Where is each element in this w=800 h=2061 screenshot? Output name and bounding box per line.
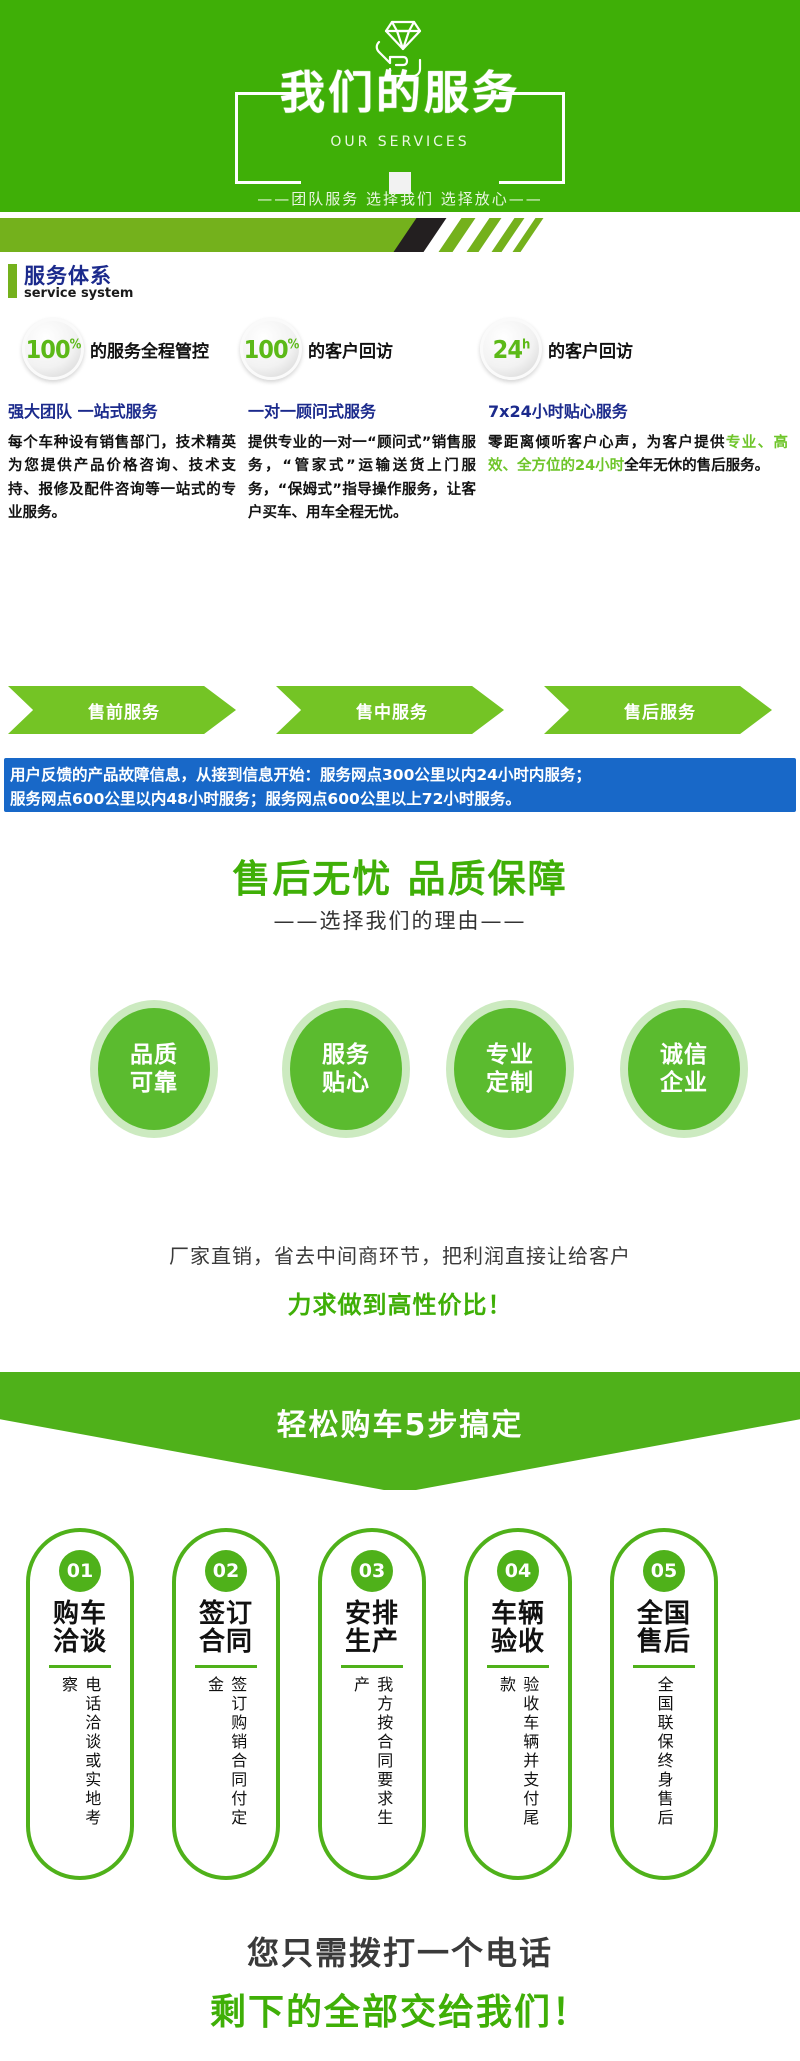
step-divider-1 — [49, 1665, 111, 1668]
service-policy-line-2: 服务网点600公里以内48小时服务；服务网点600公里以上72小时服务。 — [10, 787, 790, 811]
step-divider-3 — [341, 1665, 403, 1668]
chevron-label-1: 售前服务 — [88, 698, 160, 723]
step-title-4-line1: 车辆 — [491, 1600, 545, 1628]
feature-body-1: 每个车种设有销售部门，技术精英为您提供产品价格咨询、技术支持、报修及配件咨询等一… — [8, 432, 236, 526]
reason-oval-4-line1: 诚信 — [660, 1041, 708, 1069]
chevron-post-sale[interactable]: 售后服务 — [544, 686, 772, 734]
step-title-5: 全国 售后 — [637, 1600, 691, 1656]
step-desc-3: 我方按合同要求生产 — [349, 1676, 395, 1844]
reason-oval-2: 服务 贴心 — [290, 1008, 402, 1130]
feature-body-3-pre: 零距离倾听客户心声，为客户提供 — [488, 435, 726, 451]
step-title-3-line2: 生产 — [345, 1628, 399, 1656]
chevron-in-sale[interactable]: 售中服务 — [276, 686, 504, 734]
heading-accent-bar — [8, 264, 17, 298]
service-policy-bar: 用户反馈的产品故障信息，从接到信息开始：服务网点300公里以内24小时内服务； … — [4, 758, 796, 812]
feature-body-3: 零距离倾听客户心声，为客户提供专业、高效、全方位的24小时全年无休的售后服务。 — [488, 432, 788, 479]
feature-column-3: 7x24小时贴心服务 零距离倾听客户心声，为客户提供专业、高效、全方位的24小时… — [488, 398, 788, 479]
badge-number-2: 100% — [244, 337, 299, 362]
factory-direct-line-2: 力求做到高性价比！ — [0, 1285, 800, 1320]
reason-oval-1: 品质 可靠 — [98, 1008, 210, 1130]
feature-body-2: 提供专业的一对一“顾问式”销售服务，“管家式”运输送货上门服务，“保姆式”指导操… — [248, 432, 476, 526]
hero-tagline: ——团队服务 选择我们 选择放心—— — [0, 188, 800, 209]
step-title-2: 签订 合同 — [199, 1600, 253, 1656]
badge-label-3: 的客户回访 — [548, 337, 633, 362]
step-desc-1: 电话洽谈或实地考察 — [57, 1676, 103, 1844]
feature-heading-2: 一对一顾问式服务 — [248, 398, 476, 422]
service-policy-line-1: 用户反馈的产品故障信息，从接到信息开始：服务网点300公里以内24小时内服务； — [10, 763, 790, 787]
badge-circle-2: 100% — [240, 318, 302, 380]
step-title-4-line2: 验收 — [491, 1628, 545, 1656]
badge-circle-1: 100% — [22, 318, 84, 380]
step-title-3-line1: 安排 — [345, 1600, 399, 1628]
step-number-1: 01 — [59, 1550, 101, 1592]
step-item-1: 01 购车 洽谈 电话洽谈或实地考察 — [26, 1528, 134, 1880]
steps-banner-title: 轻松购车5步搞定 — [0, 1400, 800, 1444]
service-system-band — [0, 218, 800, 252]
badge-label-1: 的服务全程管控 — [90, 337, 209, 362]
reasons-heading: 售后无忧 品质保障 — [0, 848, 800, 903]
step-title-5-line1: 全国 — [637, 1600, 691, 1628]
badge-item-3: 24h 的客户回访 — [480, 318, 633, 380]
step-item-2: 02 签订 合同 签订购销合同付定金 — [172, 1528, 280, 1880]
service-phase-chevrons: 售前服务 售中服务 售后服务 — [0, 686, 800, 734]
factory-direct-line-1: 厂家直销，省去中间商环节，把利润直接让给客户 — [0, 1240, 800, 1269]
feature-heading-3: 7x24小时贴心服务 — [488, 398, 788, 422]
badge-number-1: 100% — [26, 337, 81, 362]
service-system-heading: 服务体系 service system — [0, 262, 800, 310]
footer-line-1: 您只需拨打一个电话 — [0, 1928, 800, 1974]
step-number-3: 03 — [351, 1550, 393, 1592]
reason-oval-3: 专业 定制 — [454, 1008, 566, 1130]
step-title-2-line1: 签订 — [199, 1600, 253, 1628]
step-number-2: 02 — [205, 1550, 247, 1592]
hero-subtitle: OUR SERVICES — [235, 134, 565, 150]
hero-banner: 我们的服务 OUR SERVICES ——团队服务 选择我们 选择放心—— — [0, 0, 800, 212]
step-title-1: 购车 洽谈 — [53, 1600, 107, 1656]
reason-oval-3-line1: 专业 — [486, 1041, 534, 1069]
step-item-5: 05 全国 售后 全国联保终身售后 — [610, 1528, 718, 1880]
step-number-5: 05 — [643, 1550, 685, 1592]
chevron-label-2: 售中服务 — [356, 698, 428, 723]
badge-item-1: 100% 的服务全程管控 — [22, 318, 209, 380]
reason-oval-2-line2: 贴心 — [322, 1069, 370, 1097]
step-desc-2: 签订购销合同付定金 — [203, 1676, 249, 1844]
reason-oval-2-line1: 服务 — [322, 1041, 370, 1069]
step-divider-2 — [195, 1665, 257, 1668]
step-title-5-line2: 售后 — [637, 1628, 691, 1656]
badge-circle-3: 24h — [480, 318, 542, 380]
step-title-1-line1: 购车 — [53, 1600, 107, 1628]
reason-oval-4-line2: 企业 — [660, 1069, 708, 1097]
reason-oval-group: 品质 可靠 服务 贴心 专业 定制 诚信 企业 — [0, 1008, 800, 1130]
step-item-4: 04 车辆 验收 验收车辆并支付尾款 — [464, 1528, 572, 1880]
reason-oval-3-line2: 定制 — [486, 1069, 534, 1097]
badge-item-2: 100% 的客户回访 — [240, 318, 393, 380]
feature-column-1: 强大团队 一站式服务 每个车种设有销售部门，技术精英为您提供产品价格咨询、技术支… — [8, 398, 236, 526]
feature-column-2: 一对一顾问式服务 提供专业的一对一“顾问式”销售服务，“管家式”运输送货上门服务… — [248, 398, 476, 526]
chevron-pre-sale[interactable]: 售前服务 — [8, 686, 236, 734]
hero-title-frame: 我们的服务 OUR SERVICES — [235, 92, 565, 184]
step-title-3: 安排 生产 — [345, 1600, 399, 1656]
reason-oval-1-line2: 可靠 — [130, 1069, 178, 1097]
band-green-block — [0, 218, 418, 252]
step-title-4: 车辆 验收 — [491, 1600, 545, 1656]
step-title-2-line2: 合同 — [199, 1628, 253, 1656]
step-divider-4 — [487, 1665, 549, 1668]
badge-row-group: 100% 的服务全程管控 100% 的客户回访 24h 的客户回访 — [0, 318, 800, 388]
step-divider-5 — [633, 1665, 695, 1668]
badge-number-3: 24h — [493, 337, 530, 362]
purchase-steps: 01 购车 洽谈 电话洽谈或实地考察 02 签订 合同 签订购销合同付定金 03… — [0, 1528, 800, 1888]
step-item-3: 03 安排 生产 我方按合同要求生产 — [318, 1528, 426, 1880]
step-desc-5: 全国联保终身售后 — [652, 1676, 675, 1844]
hero-title: 我们的服务 — [235, 70, 565, 115]
reason-oval-4: 诚信 企业 — [628, 1008, 740, 1130]
service-system-title-en: service system — [24, 286, 133, 301]
reasons-subheading: ——选择我们的理由—— — [0, 905, 800, 935]
chevron-label-3: 售后服务 — [624, 698, 696, 723]
badge-label-2: 的客户回访 — [308, 337, 393, 362]
reason-oval-1-line1: 品质 — [130, 1041, 178, 1069]
step-number-4: 04 — [497, 1550, 539, 1592]
feature-heading-1: 强大团队 一站式服务 — [8, 398, 236, 422]
footer-line-2: 剩下的全部交给我们！ — [0, 1983, 800, 2035]
step-desc-4: 验收车辆并支付尾款 — [495, 1676, 541, 1844]
feature-body-3-post: 全年无休的售后服务。 — [624, 458, 769, 474]
step-title-1-line2: 洽谈 — [53, 1628, 107, 1656]
